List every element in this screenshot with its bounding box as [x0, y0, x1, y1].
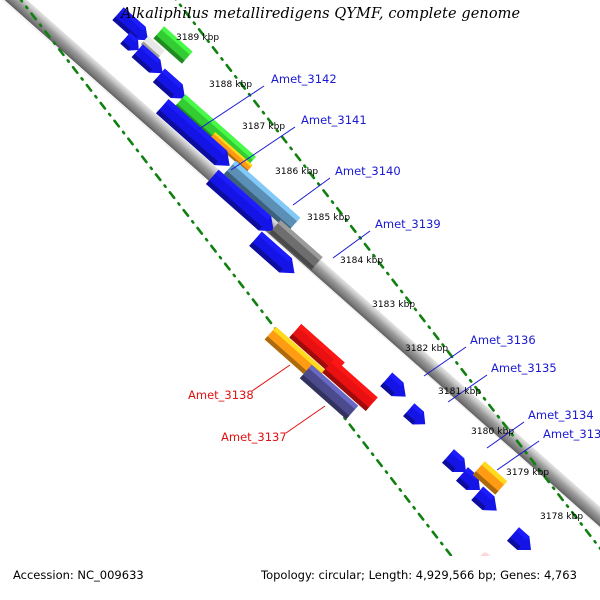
- ruler-tick-label: 3181 kbp: [438, 387, 481, 397]
- ruler-tick-label: 3186 kbp: [275, 167, 318, 177]
- gene-label-amet_3140[interactable]: Amet_3140: [335, 164, 401, 178]
- gene-label-amet_3141[interactable]: Amet_3141: [301, 113, 367, 127]
- ruler-tick-label: 3189 kbp: [176, 33, 219, 43]
- gene-label-amet_3138[interactable]: Amet_3138: [188, 388, 254, 402]
- genome-canvas[interactable]: 3189 kbp3188 kbp3187 kbp3186 kbp3185 kbp…: [0, 0, 600, 556]
- gene-label-amet_3136[interactable]: Amet_3136: [470, 333, 536, 347]
- gene-label-amet_3135[interactable]: Amet_3135: [491, 361, 557, 375]
- ruler-tick-label: 3179 kbp: [506, 468, 549, 478]
- ruler-tick-label: 3187 kbp: [242, 122, 285, 132]
- gene-feature[interactable]: [380, 373, 411, 404]
- page-title: Alkaliphilus metalliredigens QYMF, compl…: [121, 6, 520, 22]
- status-bar: Accession: NC_009633 Topology: circular;…: [0, 556, 600, 600]
- genome-viewer[interactable]: 3189 kbp3188 kbp3187 kbp3186 kbp3185 kbp…: [0, 0, 600, 600]
- ruler-tick-label: 3185 kbp: [307, 213, 350, 223]
- gene-label-amet_3133[interactable]: Amet_3133: [543, 427, 600, 441]
- gene-label-amet_3142[interactable]: Amet_3142: [271, 72, 337, 86]
- gene-feature[interactable]: [403, 403, 431, 430]
- gene-label-amet_3137[interactable]: Amet_3137: [221, 430, 287, 444]
- gene-label-leader: [252, 365, 290, 391]
- gene-label-leader: [286, 406, 325, 433]
- ruler-tick-label: 3180 kbp: [471, 427, 514, 437]
- ruler-tick-label: 3182 kbp: [405, 344, 448, 354]
- gene-label-amet_3139[interactable]: Amet_3139: [375, 217, 441, 231]
- accession-text: Accession: NC_009633: [13, 568, 144, 582]
- genome-summary-text: Topology: circular; Length: 4,929,566 bp…: [261, 568, 577, 582]
- ruler-tick-label: 3183 kbp: [372, 300, 415, 310]
- gene-label-amet_3134[interactable]: Amet_3134: [528, 408, 594, 422]
- ruler-tick-label: 3178 kbp: [540, 512, 583, 522]
- ruler-tick-label: 3188 kbp: [209, 80, 252, 90]
- ruler-tick-label: 3184 kbp: [340, 256, 383, 266]
- gene-feature[interactable]: [507, 527, 537, 556]
